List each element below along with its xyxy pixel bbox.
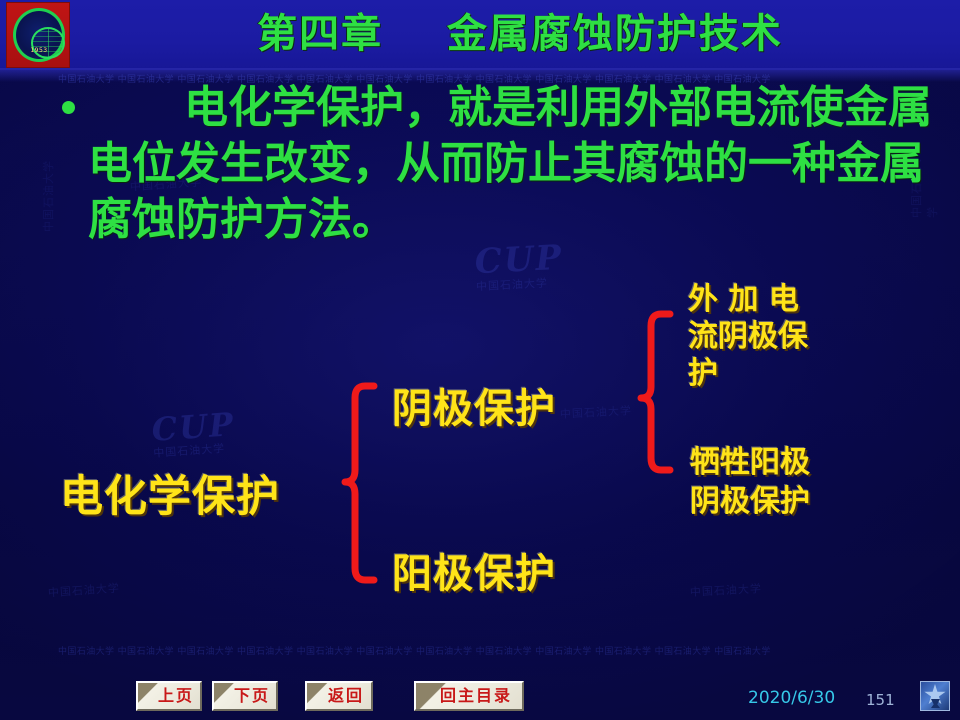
main-menu-label: 回主目录 bbox=[440, 688, 512, 704]
presentation-slide: 中国石油大学 中国石油大学 中国石油大学 中国石油大学 中国石油大学 中国石油大… bbox=[0, 0, 960, 720]
diagram-leaf-impressed-current-label: 外 加 电 流阴极保 护 bbox=[688, 281, 908, 392]
logo-ring: 1953 bbox=[13, 8, 65, 62]
bullet-point-icon bbox=[62, 101, 75, 114]
fountain-star-icon[interactable] bbox=[920, 681, 950, 711]
diagram-branch-anodic-label: 阳极保护 bbox=[392, 541, 556, 599]
slide-page-number: 151 bbox=[866, 691, 895, 709]
slide-title: 第四章 金属腐蚀防护技术 bbox=[140, 8, 900, 60]
prev-page-label: 上页 bbox=[158, 688, 194, 704]
diagram-root-label: 电化学保护 bbox=[60, 462, 280, 524]
next-page-label: 下页 bbox=[234, 688, 270, 704]
diagram-branch-cathodic-label: 阴极保护 bbox=[392, 376, 556, 434]
cup-shape bbox=[931, 699, 940, 708]
logo-globe bbox=[31, 27, 65, 59]
prev-page-button[interactable]: 上页 bbox=[136, 681, 202, 711]
main-menu-button[interactable]: 回主目录 bbox=[414, 681, 524, 711]
body-paragraph: 电化学保护，就是利用外部电流使金属电位发生改变，从而防止其腐蚀的一种金属腐蚀防护… bbox=[88, 80, 934, 248]
slide-date: 2020/6/30 bbox=[748, 688, 835, 708]
return-label: 返回 bbox=[328, 688, 364, 704]
watermark-band-bottom: 中国石油大学 中国石油大学 中国石油大学 中国石油大学 中国石油大学 中国石油大… bbox=[58, 644, 902, 655]
next-page-button[interactable]: 下页 bbox=[212, 681, 278, 711]
return-button[interactable]: 返回 bbox=[305, 681, 373, 711]
logo-year: 1953 bbox=[16, 47, 62, 54]
university-logo-icon: 1953 bbox=[6, 2, 70, 68]
diagram-leaf-sacrificial-anode-label: 牺牲阳极 阴极保护 bbox=[690, 443, 910, 521]
